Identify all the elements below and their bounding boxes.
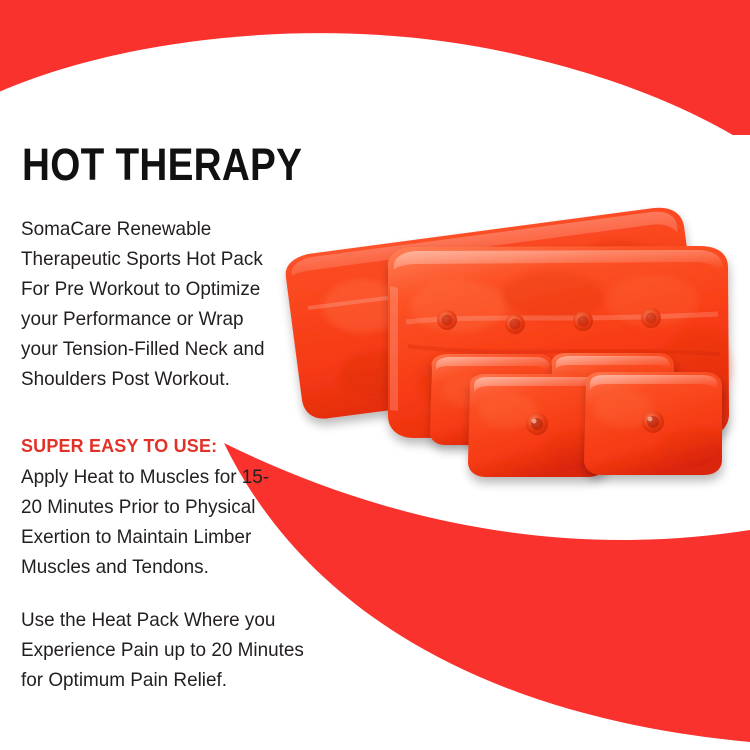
- page-title-secondary: HOT THERAPY: [22, 140, 302, 190]
- instructions-block: SUPER EASY TO USE: Apply Heat to Muscles…: [21, 433, 293, 582]
- header-divider: [0, 135, 750, 138]
- usage-note-block: Use the Heat Pack Where you Experience P…: [21, 605, 321, 695]
- usage-paragraph: Use the Heat Pack Where you Experience P…: [21, 605, 312, 695]
- page-title-primary: ADVANCED: [22, 88, 232, 135]
- instructions-heading: SUPER EASY TO USE:: [21, 433, 285, 459]
- intro-paragraph: SomaCare Renewable Therapeutic Sports Ho…: [21, 214, 275, 394]
- intro-copy-block: SomaCare Renewable Therapeutic Sports Ho…: [21, 214, 283, 394]
- small-gel-pack-front-right: [584, 372, 722, 475]
- product-image: [268, 196, 750, 496]
- product-infographic: ADVANCED HOT THERAPY SomaCare Renewable …: [0, 0, 750, 750]
- instructions-paragraph: Apply Heat to Muscles for 15-20 Minutes …: [21, 462, 285, 582]
